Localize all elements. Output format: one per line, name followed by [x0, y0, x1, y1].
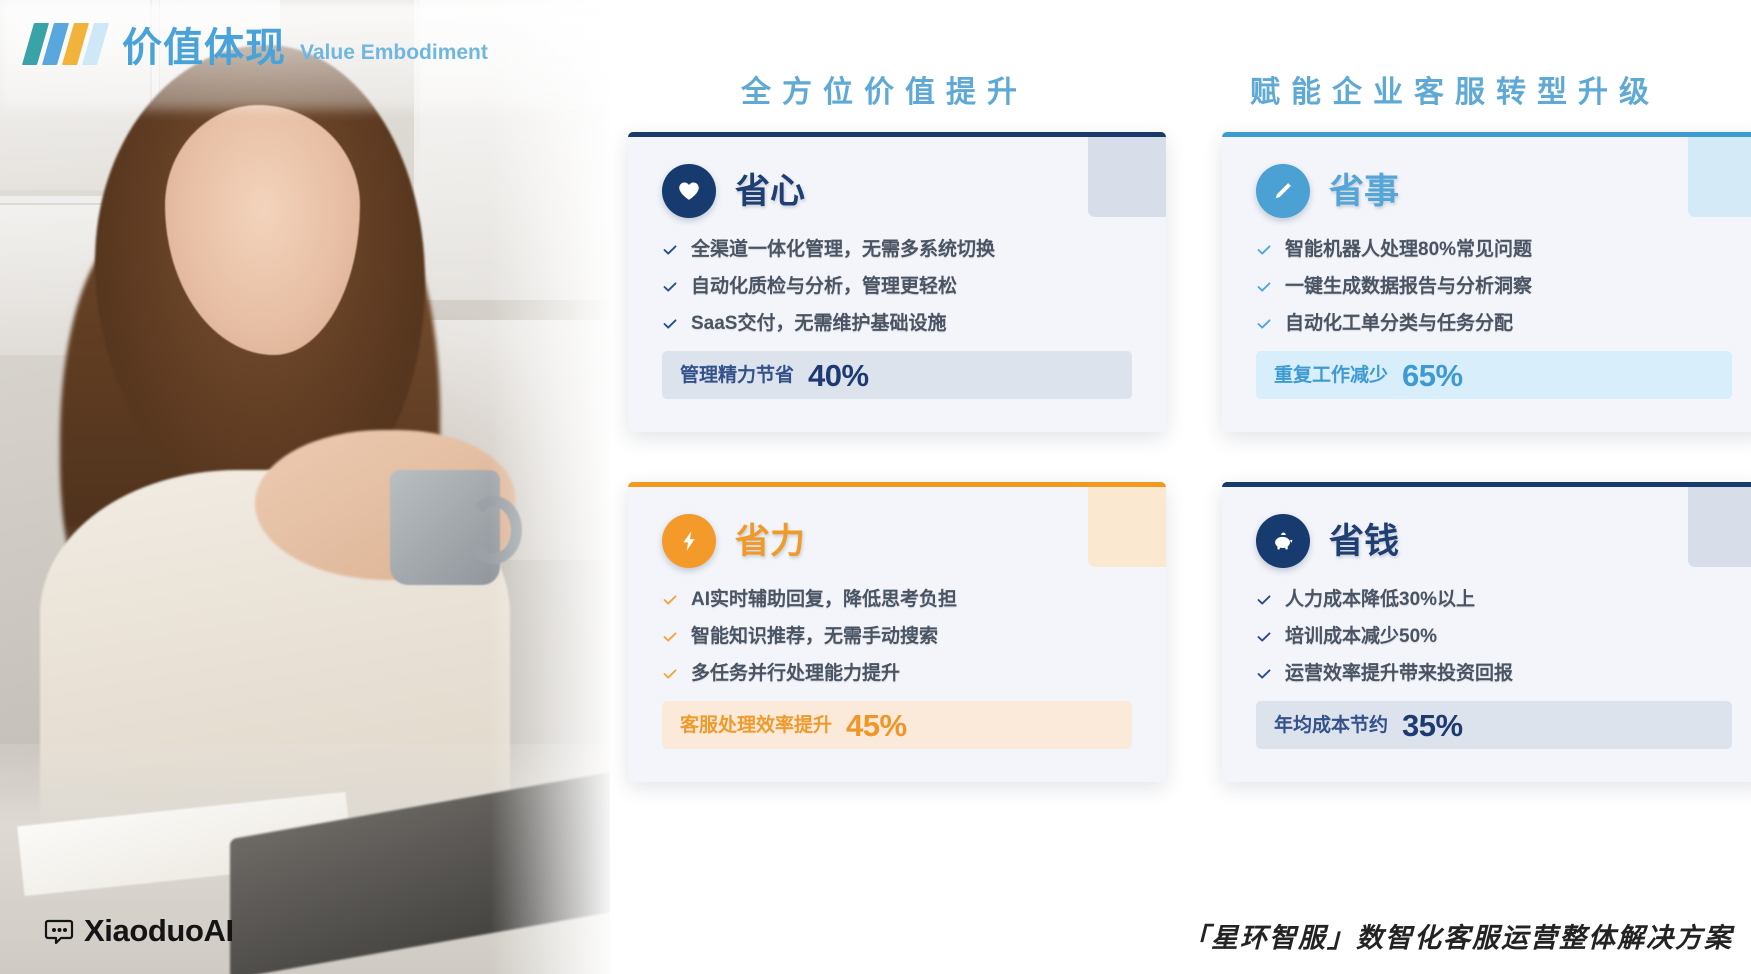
coffee-mug: [390, 470, 500, 585]
benefit-card[interactable]: 省事 智能机器人处理80%常见问题 一键生成数据报告与分析洞察 自动化工单分类与…: [1222, 132, 1751, 432]
list-item: 人力成本降低30%以上: [1256, 590, 1732, 609]
list-item: 多任务并行处理能力提升: [662, 664, 1132, 683]
card-header: 省心: [662, 164, 1132, 218]
check-icon: [1256, 279, 1272, 295]
card-stat-bar: 客服处理效率提升 45%: [662, 701, 1132, 749]
list-item: 自动化质检与分析，管理更轻松: [662, 277, 1132, 296]
list-item-label: 人力成本降低30%以上: [1285, 590, 1475, 609]
card-bullet-list: 人力成本降低30%以上 培训成本减少50% 运营效率提升带来投资回报: [1256, 590, 1732, 683]
stat-value: 35%: [1402, 710, 1463, 741]
photo-fade-overlay: [490, 0, 610, 974]
check-icon: [662, 279, 678, 295]
card-header: 省钱: [1256, 514, 1732, 568]
list-item: 全渠道一体化管理，无需多系统切换: [662, 240, 1132, 259]
list-item-label: 智能知识推荐，无需手动搜索: [691, 627, 938, 646]
benefit-card[interactable]: 省心 全渠道一体化管理，无需多系统切换 自动化质检与分析，管理更轻松 SaaS交…: [628, 132, 1166, 432]
list-item-label: 自动化工单分类与任务分配: [1285, 314, 1513, 333]
list-item: 运营效率提升带来投资回报: [1256, 664, 1732, 683]
check-icon: [662, 666, 678, 682]
card-header: 省事: [1256, 164, 1732, 218]
card-title: 省心: [735, 174, 805, 209]
check-icon: [1256, 666, 1272, 682]
brand-logo: XiaoduoAI: [44, 915, 234, 946]
card-bullet-list: AI实时辅助回复，降低思考负担 智能知识推荐，无需手动搜索 多任务并行处理能力提…: [662, 590, 1132, 683]
check-icon: [1256, 242, 1272, 258]
list-item: 一键生成数据报告与分析洞察: [1256, 277, 1732, 296]
list-item: 智能知识推荐，无需手动搜索: [662, 627, 1132, 646]
list-item-label: 培训成本减少50%: [1285, 627, 1437, 646]
slide-root: 价值体现 Value Embodiment XiaoduoAI 全方位价值提升 …: [0, 0, 1751, 974]
check-icon: [662, 242, 678, 258]
card-bullet-list: 智能机器人处理80%常见问题 一键生成数据报告与分析洞察 自动化工单分类与任务分…: [1256, 240, 1732, 333]
list-item: 自动化工单分类与任务分配: [1256, 314, 1732, 333]
list-item-label: SaaS交付，无需维护基础设施: [691, 314, 946, 333]
stat-value: 65%: [1402, 360, 1463, 391]
card-stat-bar: 重复工作减少 65%: [1256, 351, 1732, 399]
list-item-label: 运营效率提升带来投资回报: [1285, 664, 1513, 683]
list-item: 培训成本减少50%: [1256, 627, 1732, 646]
content-area: 全方位价值提升 赋能企业客服转型升级 省心: [610, 0, 1751, 974]
benefit-card[interactable]: 省力 AI实时辅助回复，降低思考负担 智能知识推荐，无需手动搜索 多任务并行处理…: [628, 482, 1166, 782]
list-item-label: AI实时辅助回复，降低思考负担: [691, 590, 957, 609]
heart-icon: [662, 164, 716, 218]
list-item-label: 多任务并行处理能力提升: [691, 664, 900, 683]
card-title: 省力: [735, 524, 805, 559]
piggy-bank-icon: [1256, 514, 1310, 568]
stat-label: 年均成本节约: [1274, 716, 1388, 735]
page-subtitle: Value Embodiment: [300, 42, 488, 63]
footer-tagline: 「星环智服」数智化客服运营整体解决方案: [1182, 925, 1733, 952]
check-icon: [662, 316, 678, 332]
list-item-label: 全渠道一体化管理，无需多系统切换: [691, 240, 995, 259]
check-icon: [1256, 592, 1272, 608]
list-item-label: 智能机器人处理80%常见问题: [1285, 240, 1532, 259]
list-item: AI实时辅助回复，降低思考负担: [662, 590, 1132, 609]
list-item-label: 自动化质检与分析，管理更轻松: [691, 277, 957, 296]
list-item: 智能机器人处理80%常见问题: [1256, 240, 1732, 259]
stat-label: 重复工作减少: [1274, 366, 1388, 385]
check-icon: [1256, 316, 1272, 332]
card-stat-bar: 管理精力节省 40%: [662, 351, 1132, 399]
check-icon: [662, 592, 678, 608]
stat-label: 管理精力节省: [680, 366, 794, 385]
page-title: 价值体现: [122, 28, 286, 68]
card-header: 省力: [662, 514, 1132, 568]
benefit-card[interactable]: 省钱 人力成本降低30%以上 培训成本减少50% 运营效率提升带来投资回报 年均…: [1222, 482, 1751, 782]
bolt-icon: [662, 514, 716, 568]
hero-photo-panel: [0, 0, 610, 974]
page-header: 价值体现 Value Embodiment: [28, 22, 488, 66]
stat-value: 40%: [808, 360, 869, 391]
card-title: 省事: [1329, 174, 1399, 209]
card-title: 省钱: [1329, 524, 1399, 559]
card-bullet-list: 全渠道一体化管理，无需多系统切换 自动化质检与分析，管理更轻松 SaaS交付，无…: [662, 240, 1132, 333]
card-stat-bar: 年均成本节约 35%: [1256, 701, 1732, 749]
stat-value: 45%: [846, 710, 907, 741]
check-icon: [1256, 629, 1272, 645]
check-icon: [662, 629, 678, 645]
brand-bars-icon: [28, 22, 108, 66]
list-item: SaaS交付，无需维护基础设施: [662, 314, 1132, 333]
chat-bubble-dots-icon: [44, 917, 74, 945]
brand-name: XiaoduoAI: [84, 915, 234, 946]
pen-icon: [1256, 164, 1310, 218]
stat-label: 客服处理效率提升: [680, 716, 832, 735]
benefit-card-grid: 省心 全渠道一体化管理，无需多系统切换 自动化质检与分析，管理更轻松 SaaS交…: [610, 0, 1751, 974]
list-item-label: 一键生成数据报告与分析洞察: [1285, 277, 1532, 296]
